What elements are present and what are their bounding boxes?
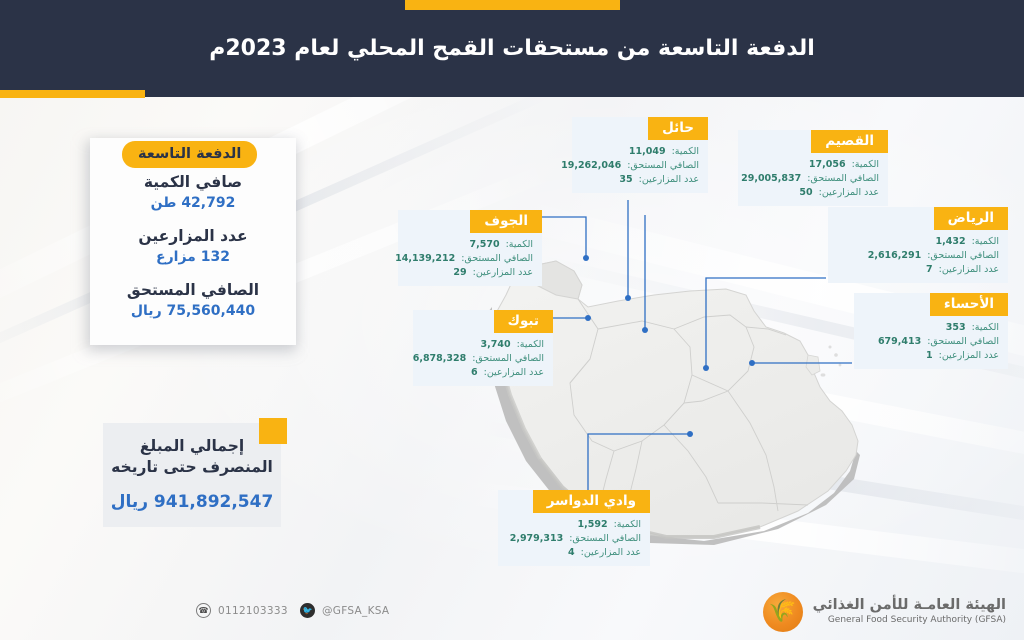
total-disbursed-value: 941,892,547 ريال [103,492,281,512]
label-farmers: عدد المزارعين: [473,266,533,280]
label-net-due: الصافي المستحق: [927,335,999,349]
value-quantity: 7,570 [470,238,500,252]
value-farmers: 29 [453,266,466,280]
org-name-arabic: الهيئة العامـة للأمن الغذائي [813,597,1006,614]
region-card-qassim[interactable]: القصيم الكمية: 17,056 الصافي المستحق: 29… [738,130,888,206]
value-farmers: 50 [799,186,812,200]
region-row-quantity: الكمية: 11,049 [572,145,708,159]
total-label-line1: إجمالي المبلغ [103,436,281,457]
label-farmers: عدد المزارعين: [639,173,699,187]
label-quantity: الكمية: [614,518,641,532]
value-quantity: 3,740 [481,338,511,352]
header-bar: الدفعة التاسعة من مستحقات القمح المحلي ل… [0,0,1024,97]
infographic-root: الدفعة التاسعة من مستحقات القمح المحلي ل… [0,0,1024,640]
value-quantity: 11,049 [629,145,666,159]
value-net-due: 6,878,328 [413,352,467,366]
page-title: الدفعة التاسعة من مستحقات القمح المحلي ل… [0,36,1024,61]
value-farmers: 1 [926,349,933,363]
summary-label: صافي الكمية [90,172,296,193]
value-farmers: 4 [568,546,575,560]
region-card-al-jouf[interactable]: الجوف الكمية: 7,570 الصافي المستحق: 14,1… [398,210,542,286]
value-quantity: 1,592 [578,518,608,532]
label-farmers: عدد المزارعين: [484,366,544,380]
value-net-due: 679,413 [878,335,921,349]
summary-value: 75,560,440 ريال [90,301,296,322]
total-label-line2: المنصرف حتى تاريخه [103,457,281,478]
label-net-due: الصافي المستحق: [569,532,641,546]
label-quantity: الكمية: [517,338,544,352]
value-net-due: 2,616,291 [868,249,922,263]
value-net-due: 14,139,212 [395,252,455,266]
label-quantity: الكمية: [672,145,699,159]
footer-phone[interactable]: ☎ 0112103333 [196,603,288,618]
region-row-quantity: الكمية: 1,592 [498,518,650,532]
value-quantity: 1,432 [936,235,966,249]
summary-item-farmers: عدد المزارعين 132 مزارع [90,226,296,268]
summary-label: الصافي المستحق [90,280,296,301]
region-card-riyadh[interactable]: الرياض الكمية: 1,432 الصافي المستحق: 2,6… [828,207,1008,283]
region-row-quantity: الكمية: 7,570 [398,238,542,252]
region-row-quantity: الكمية: 17,056 [738,158,888,172]
region-card-hail[interactable]: حائل الكمية: 11,049 الصافي المستحق: 19,2… [572,117,708,193]
header-accent-tab [405,0,620,10]
gfsa-logo: 🌾 الهيئة العامـة للأمن الغذائي General F… [763,592,1006,632]
region-card-al-ahsa[interactable]: الأحساء الكمية: 353 الصافي المستحق: 679,… [854,293,1008,369]
region-row-net-due: الصافي المستحق: 2,616,291 [828,249,1008,263]
region-title: القصيم [811,130,888,153]
header-accent-underbar [0,90,145,98]
value-net-due: 19,262,046 [561,159,621,173]
label-farmers: عدد المزارعين: [581,546,641,560]
value-quantity: 353 [946,321,966,335]
value-quantity: 17,056 [809,158,846,172]
label-net-due: الصافي المستحق: [627,159,699,173]
region-row-net-due: الصافي المستحق: 2,979,313 [498,532,650,546]
region-title: حائل [648,117,708,140]
value-net-due: 29,005,837 [741,172,801,186]
region-row-farmers: عدد المزارعين: 1 [854,349,1008,363]
footer-phone-text: 0112103333 [218,605,288,617]
region-row-net-due: الصافي المستحق: 29,005,837 [738,172,888,186]
region-row-farmers: عدد المزارعين: 4 [498,546,650,560]
summary-item-net-due: الصافي المستحق 75,560,440 ريال [90,280,296,322]
region-row-farmers: عدد المزارعين: 50 [738,186,888,200]
footer-twitter[interactable]: 🐦 @GFSA_KSA [300,603,389,618]
region-title: وادي الدواسر [533,490,650,513]
twitter-icon: 🐦 [300,603,315,618]
region-card-tabuk[interactable]: تبوك الكمية: 3,740 الصافي المستحق: 6,878… [413,310,553,386]
region-row-quantity: الكمية: 1,432 [828,235,1008,249]
value-farmers: 35 [619,173,632,187]
summary-value: 42,792 طن [90,193,296,214]
label-net-due: الصافي المستحق: [461,252,533,266]
summary-body: صافي الكمية 42,792 طن عدد المزارعين 132 … [90,172,296,334]
value-farmers: 6 [471,366,478,380]
summary-badge: الدفعة التاسعة [122,141,257,168]
region-row-net-due: الصافي المستحق: 14,139,212 [398,252,542,266]
region-title: الجوف [470,210,542,233]
value-net-due: 2,979,313 [510,532,564,546]
region-title: الأحساء [930,293,1008,316]
region-row-farmers: عدد المزارعين: 29 [398,266,542,280]
gfsa-logo-text: الهيئة العامـة للأمن الغذائي General Foo… [813,597,1006,627]
region-row-farmers: عدد المزارعين: 7 [828,263,1008,277]
region-card-wadi-al-dawasir[interactable]: وادي الدواسر الكمية: 1,592 الصافي المستح… [498,490,650,566]
phone-icon: ☎ [196,603,211,618]
region-title: تبوك [494,310,553,333]
total-disbursed-label: إجمالي المبلغ المنصرف حتى تاريخه [103,436,281,478]
label-quantity: الكمية: [972,321,999,335]
label-farmers: عدد المزارعين: [939,349,999,363]
region-row-net-due: الصافي المستحق: 19,262,046 [572,159,708,173]
value-farmers: 7 [926,263,933,277]
region-row-net-due: الصافي المستحق: 679,413 [854,335,1008,349]
region-row-net-due: الصافي المستحق: 6,878,328 [413,352,553,366]
summary-item-net-quantity: صافي الكمية 42,792 طن [90,172,296,214]
gfsa-emblem-icon: 🌾 [763,592,803,632]
footer: ☎ 0112103333 🐦 @GFSA_KSA 🌾 الهيئة العامـ… [0,584,1024,640]
label-quantity: الكمية: [506,238,533,252]
footer-twitter-handle: @GFSA_KSA [322,605,389,617]
region-row-farmers: عدد المزارعين: 6 [413,366,553,380]
label-farmers: عدد المزارعين: [939,263,999,277]
region-row-quantity: الكمية: 3,740 [413,338,553,352]
label-quantity: الكمية: [972,235,999,249]
org-name-english: General Food Security Authority (GFSA) [813,614,1006,627]
summary-value: 132 مزارع [90,247,296,268]
label-farmers: عدد المزارعين: [819,186,879,200]
label-net-due: الصافي المستحق: [807,172,879,186]
label-quantity: الكمية: [852,158,879,172]
region-row-farmers: عدد المزارعين: 35 [572,173,708,187]
label-net-due: الصافي المستحق: [927,249,999,263]
region-title: الرياض [934,207,1008,230]
region-row-quantity: الكمية: 353 [854,321,1008,335]
summary-label: عدد المزارعين [90,226,296,247]
label-net-due: الصافي المستحق: [472,352,544,366]
